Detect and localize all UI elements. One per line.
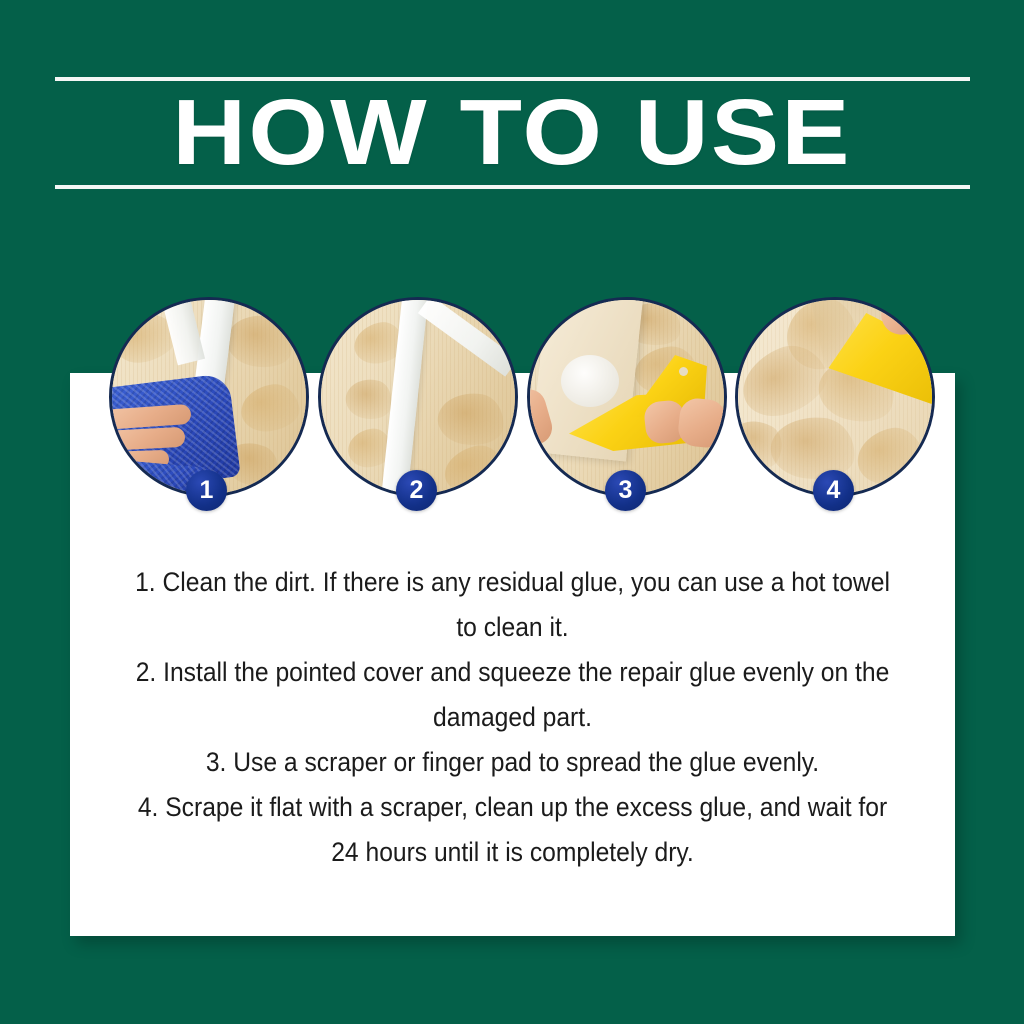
step-4[interactable]: [735, 297, 935, 497]
step-badge-1[interactable]: 1: [186, 470, 227, 511]
instruction-4: 4. Scrape it flat with a scraper, clean …: [124, 785, 901, 875]
scraper-flatten-photo: [735, 297, 935, 497]
cloth-wipe-photo: [109, 297, 309, 497]
step-badge-3[interactable]: 3: [605, 470, 646, 511]
glue-application-photo: [318, 297, 518, 497]
title-rule-bottom: [55, 185, 970, 189]
step-2[interactable]: [318, 297, 518, 497]
instruction-3: 3. Use a scraper or finger pad to spread…: [124, 740, 901, 785]
instruction-1: 1. Clean the dirt. If there is any resid…: [124, 560, 901, 650]
step-1[interactable]: [109, 297, 309, 497]
page-title: HOW TO USE: [0, 80, 1024, 184]
header: HOW TO USE: [0, 0, 1024, 230]
scraper-spread-photo: [527, 297, 727, 497]
instructions-list: 1. Clean the dirt. If there is any resid…: [124, 560, 901, 875]
step-badge-2[interactable]: 2: [396, 470, 437, 511]
step-3[interactable]: [527, 297, 727, 497]
step-badge-4[interactable]: 4: [813, 470, 854, 511]
instruction-2: 2. Install the pointed cover and squeeze…: [124, 650, 901, 740]
